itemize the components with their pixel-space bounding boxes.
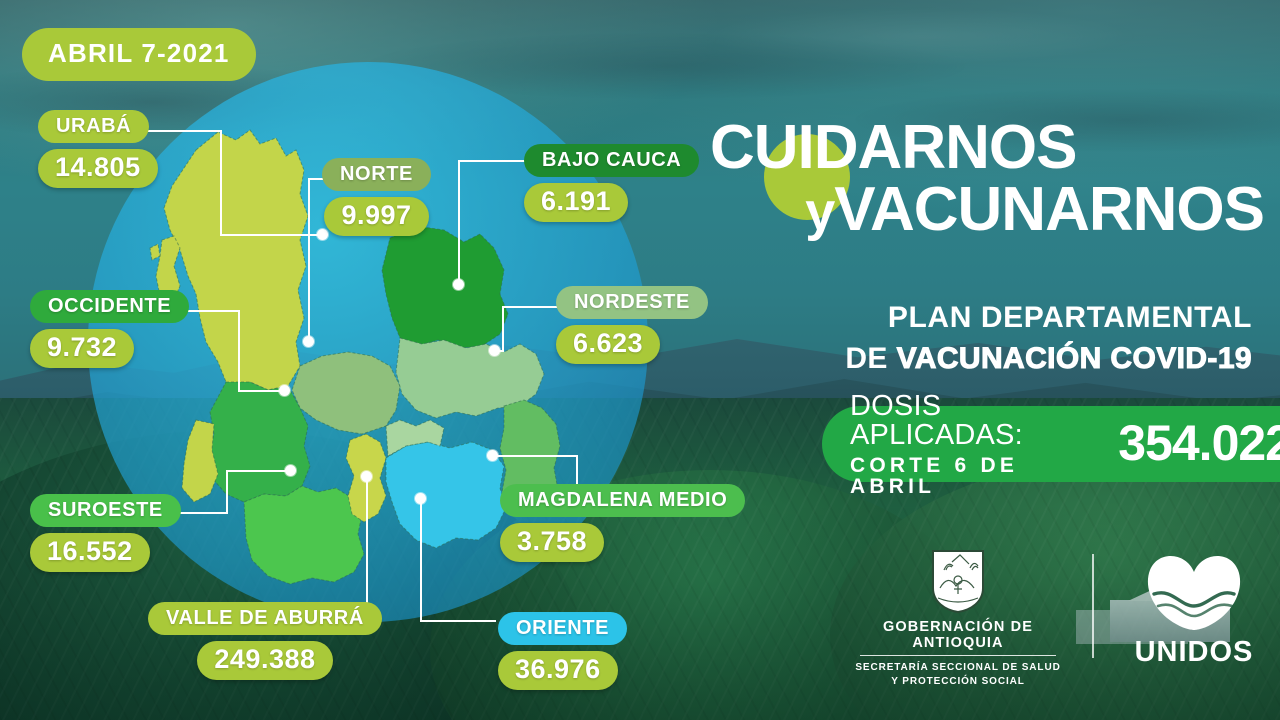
map-region-norte (292, 352, 400, 434)
subtitle-line-2: DE VACUNACIÓN COVID-19 (732, 341, 1252, 378)
region-label-suroeste: SUROESTE 16.552 (30, 494, 181, 572)
region-value-magdalena-medio: 3.758 (500, 523, 604, 562)
region-name-occidente: OCCIDENTE (30, 290, 189, 323)
region-label-uraba: URABÁ 14.805 (38, 110, 158, 188)
dose-sublabel: CORTE 6 DE ABRIL (850, 455, 1106, 497)
headline-line-2-text: VACUNARNOS (834, 175, 1264, 244)
subtitle-block: PLAN DEPARTAMENTAL DE VACUNACIÓN COVID-1… (732, 300, 1252, 377)
unidos-logo: UNIDOS (1124, 550, 1264, 669)
logo-divider (860, 655, 1056, 656)
logo-block: GOBERNACIÓN DE ANTIOQUIA SECRETARÍA SECC… (840, 548, 1260, 678)
map-dot-occidente (279, 385, 290, 396)
region-value-occidente: 9.732 (30, 329, 134, 368)
headline-line-1: CUIDARNOS (706, 118, 1266, 178)
government-logo: GOBERNACIÓN DE ANTIOQUIA SECRETARÍA SECC… (840, 548, 1076, 688)
region-name-nordeste: NORDESTE (556, 286, 708, 319)
headline-line-2: yVACUNARNOS (706, 180, 1266, 240)
region-value-valle-de-aburra: 249.388 (197, 641, 332, 680)
map-region-occidente (208, 382, 310, 502)
region-value-suroeste: 16.552 (30, 533, 150, 572)
unidos-heart-icon (1146, 550, 1242, 634)
map-region-bajo-cauca (382, 226, 508, 348)
infographic-canvas: ABRIL 7-2021 URABÁ 14.805 NORTE 9.997 BA… (0, 0, 1280, 720)
region-name-suroeste: SUROESTE (30, 494, 181, 527)
region-name-magdalena-medio: MAGDALENA MEDIO (500, 484, 745, 517)
map-dot-norte (303, 336, 314, 347)
region-label-bajo-cauca: BAJO CAUCA 6.191 (524, 144, 699, 222)
coat-of-arms-icon (930, 548, 986, 614)
dose-value: 354.022 (1118, 418, 1280, 468)
map-dot-bajo-cauca (453, 279, 464, 290)
map-dot-suroeste (285, 465, 296, 476)
government-dept-line-1: SECRETARÍA SECCIONAL DE SALUD (840, 661, 1076, 675)
map-region-uraba-islet (150, 244, 160, 260)
map-dot-nordeste (489, 345, 500, 356)
headline-conjunction: y (805, 182, 834, 242)
map-region-suroeste (244, 486, 364, 584)
dose-banner: DOSIS APLICADAS: CORTE 6 DE ABRIL 354.02… (822, 406, 1280, 482)
region-label-nordeste: NORDESTE 6.623 (556, 286, 708, 364)
unidos-label: UNIDOS (1124, 636, 1264, 669)
logo-vertical-divider (1092, 554, 1094, 658)
region-value-uraba: 14.805 (38, 149, 158, 188)
region-name-oriente: ORIENTE (498, 612, 627, 645)
region-value-oriente: 36.976 (498, 651, 618, 690)
map-dot-magdalena-medio (487, 450, 498, 461)
region-label-magdalena-medio: MAGDALENA MEDIO 3.758 (500, 484, 745, 562)
subtitle-line-1: PLAN DEPARTAMENTAL (732, 300, 1252, 337)
region-name-uraba: URABÁ (38, 110, 149, 143)
region-name-bajo-cauca: BAJO CAUCA (524, 144, 699, 177)
region-value-norte: 9.997 (324, 197, 428, 236)
map-dot-oriente (415, 493, 426, 504)
dose-label: DOSIS APLICADAS: (850, 392, 1106, 450)
region-name-norte: NORTE (322, 158, 431, 191)
date-badge: ABRIL 7-2021 (22, 28, 256, 81)
region-label-occidente: OCCIDENTE 9.732 (30, 290, 189, 368)
map-dot-valle-de-aburra (361, 471, 372, 482)
region-label-norte: NORTE 9.997 (322, 158, 431, 236)
subtitle-line-2-prefix: DE (845, 342, 896, 375)
subtitle-line-2-bold: VACUNACIÓN COVID-19 (897, 342, 1252, 375)
headline-block: CUIDARNOS yVACUNARNOS (706, 118, 1266, 239)
region-label-valle-de-aburra: VALLE DE ABURRÁ 249.388 (148, 602, 382, 680)
region-name-valle-de-aburra: VALLE DE ABURRÁ (148, 602, 382, 635)
government-name: GOBERNACIÓN DE ANTIOQUIA (840, 619, 1076, 651)
region-value-nordeste: 6.623 (556, 325, 660, 364)
government-dept-line-2: Y PROTECCIÓN SOCIAL (840, 675, 1076, 689)
region-value-bajo-cauca: 6.191 (524, 183, 628, 222)
map-region-occidente-west (182, 420, 218, 502)
region-label-oriente: ORIENTE 36.976 (498, 612, 627, 690)
